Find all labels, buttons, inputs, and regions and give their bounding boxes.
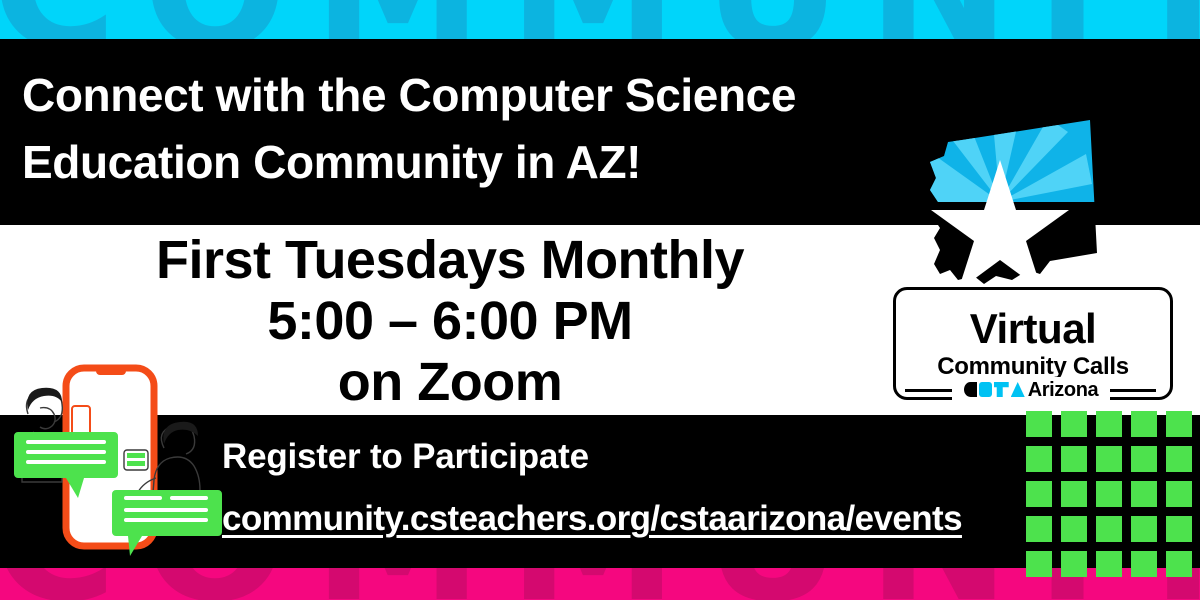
grid-square (1166, 516, 1192, 542)
grid-square (1026, 481, 1052, 507)
green-dot-grid (1026, 411, 1192, 577)
grid-square (1166, 446, 1192, 472)
grid-square (1061, 481, 1087, 507)
grid-square (1061, 411, 1087, 437)
headline-line-1: Connect with the Computer Science (22, 62, 952, 129)
badge-rule-left (905, 389, 953, 392)
csta-arizona-logo: Arizona (952, 377, 1110, 402)
register-cta-label: Register to Participate (222, 437, 962, 477)
grid-square (1061, 446, 1087, 472)
grid-square (1131, 481, 1157, 507)
grid-square (1096, 411, 1122, 437)
grid-square (1131, 446, 1157, 472)
headline-line-2: Education Community in AZ! (22, 129, 952, 196)
csta-logo-mark-icon (964, 382, 1025, 397)
csta-logo-word: Arizona (1028, 380, 1099, 400)
meeting-frequency: First Tuesdays Monthly (30, 232, 870, 289)
grid-square (1061, 551, 1087, 577)
badge-subtitle: Community Calls (937, 355, 1129, 379)
badge-rule-right (1108, 389, 1156, 392)
people-chatting-phone-illustration (4, 352, 236, 564)
poster-canvas: COMMUNITY COMMUNITY Connect with the Com… (0, 0, 1200, 600)
grid-square (1096, 516, 1122, 542)
bottom-pink-band: COMMUNITY (0, 568, 1200, 600)
grid-square (1166, 551, 1192, 577)
grid-square (1131, 411, 1157, 437)
meeting-time: 5:00 – 6:00 PM (30, 293, 870, 350)
top-cyan-band: COMMUNITY (0, 0, 1200, 39)
grid-square (1026, 551, 1052, 577)
grid-square (1026, 516, 1052, 542)
grid-square (1026, 411, 1052, 437)
grid-square (1096, 446, 1122, 472)
grid-square (1131, 551, 1157, 577)
cyan-ghost-text: COMMUNITY (0, 0, 1200, 39)
pink-ghost-text: COMMUNITY (0, 568, 1200, 600)
grid-square (1096, 481, 1122, 507)
grid-square (1131, 516, 1157, 542)
grid-square (1166, 481, 1192, 507)
arizona-state-flag-icon (900, 98, 1100, 298)
page-title: Connect with the Computer Science Educat… (22, 62, 952, 196)
badge-title: Virtual (970, 308, 1096, 350)
grid-square (1166, 411, 1192, 437)
register-block: Register to Participate community.csteac… (222, 437, 962, 539)
register-url-link[interactable]: community.csteachers.org/cstaarizona/eve… (222, 499, 962, 539)
grid-square (1026, 446, 1052, 472)
grid-square (1061, 516, 1087, 542)
grid-square (1096, 551, 1122, 577)
